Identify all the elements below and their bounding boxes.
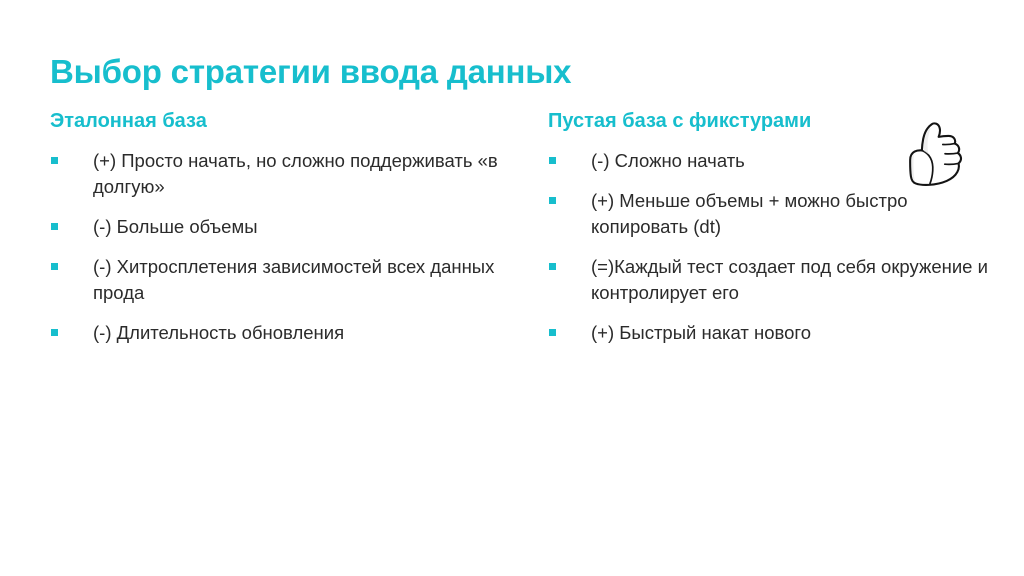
list-item-label: (+) Быстрый накат нового <box>591 320 988 346</box>
square-bullet-icon <box>51 223 58 230</box>
list-item-label: (-) Длительность обновления <box>93 320 505 346</box>
thumbs-up-icon <box>903 120 969 188</box>
column-left-bullet-list: (+) Просто начать, но сложно поддерживат… <box>50 148 505 346</box>
list-item: (-) Больше объемы <box>50 214 505 240</box>
square-bullet-icon <box>51 263 58 270</box>
square-bullet-icon <box>549 157 556 164</box>
square-bullet-icon <box>549 197 556 204</box>
list-item: (-) Длительность обновления <box>50 320 505 346</box>
list-item-label: (=)Каждый тест создает под себя окружени… <box>591 254 988 306</box>
list-item-label: (-) Хитросплетения зависимостей всех дан… <box>93 254 505 306</box>
column-left: Эталонная база (+) Просто начать, но сло… <box>50 108 505 346</box>
page-title: Выбор стратегии ввода данных <box>50 52 950 92</box>
list-item-label: (+) Просто начать, но сложно поддерживат… <box>93 148 505 200</box>
slide: Выбор стратегии ввода данных Эталонная б… <box>0 0 1024 576</box>
list-item: (+) Меньше объемы + можно быстро копиров… <box>548 188 988 240</box>
square-bullet-icon <box>51 329 58 336</box>
list-item: (=)Каждый тест создает под себя окружени… <box>548 254 988 306</box>
list-item: (-) Хитросплетения зависимостей всех дан… <box>50 254 505 306</box>
square-bullet-icon <box>51 157 58 164</box>
list-item: (+) Быстрый накат нового <box>548 320 988 346</box>
list-item-label: (-) Больше объемы <box>93 214 505 240</box>
square-bullet-icon <box>549 329 556 336</box>
square-bullet-icon <box>549 263 556 270</box>
list-item-label: (+) Меньше объемы + можно быстро копиров… <box>591 188 988 240</box>
column-left-heading: Эталонная база <box>50 108 505 134</box>
list-item: (+) Просто начать, но сложно поддерживат… <box>50 148 505 200</box>
